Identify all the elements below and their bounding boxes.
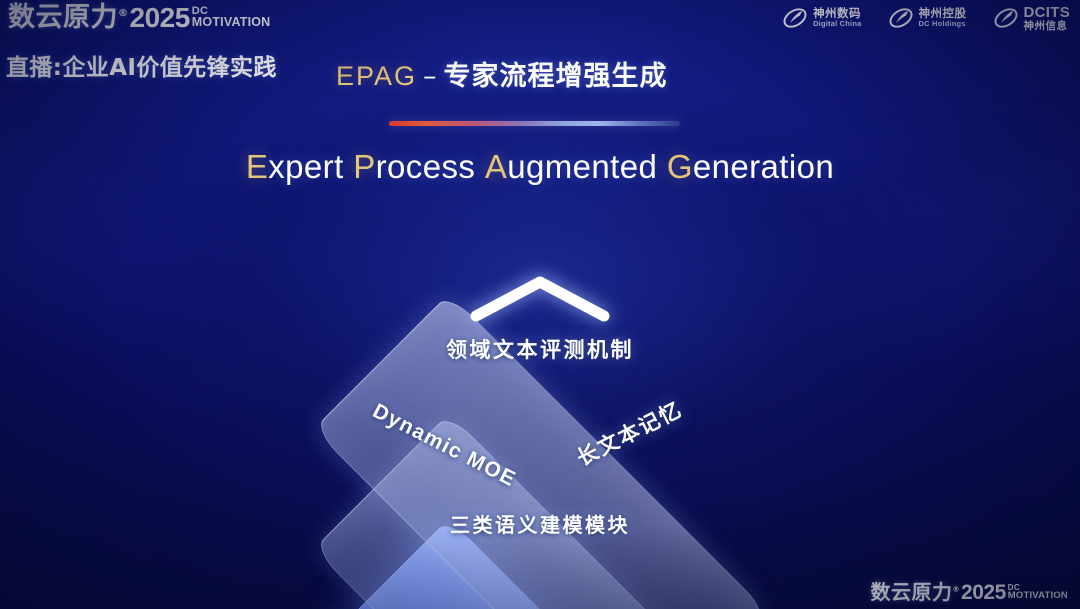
- headline-expert-process-augmented-generation: Expert Process Augmented Generation: [0, 148, 1080, 186]
- headline-cap-p: P: [353, 148, 375, 185]
- headline-rest-process: rocess: [376, 148, 476, 185]
- gradient-divider: [389, 121, 680, 126]
- title-chinese: 专家流程增强生成: [444, 61, 668, 92]
- presentation-slide: 数云原力® 2025 DC MOTIVATION 直播:企业AI价值先锋实践 E…: [0, 0, 1080, 609]
- headline-rest-expert: xpert: [268, 148, 343, 185]
- partner-logo-dcits: DCITS 神州信息: [993, 5, 1071, 32]
- partner-label: 神州控股 DC Holdings: [919, 8, 967, 28]
- brand-logo-year: 2025: [130, 4, 190, 32]
- watermark-logo-cn: 数云原力®: [871, 582, 961, 602]
- chevron-up-icon: [466, 272, 614, 324]
- partner-label: DCITS 神州信息: [1024, 5, 1071, 32]
- brand-logo: 数云原力® 2025 DC MOTIVATION: [8, 4, 270, 32]
- registered-mark-icon: ®: [118, 8, 129, 19]
- partner-name-en: DCITS: [1024, 5, 1071, 21]
- partner-label: 神州数码 Digital China: [813, 8, 861, 28]
- registered-mark-icon: ®: [953, 585, 961, 593]
- brand-logo-cn: 数云原力®: [8, 4, 129, 31]
- swoosh-icon: [888, 5, 914, 31]
- swoosh-icon: [782, 5, 808, 31]
- partner-name-en: DC Holdings: [919, 20, 967, 28]
- headline-cap-a: A: [485, 148, 507, 185]
- partner-logo-dc-holdings: 神州控股 DC Holdings: [888, 5, 967, 31]
- watermark-logo-motivation: MOTIVATION: [1008, 591, 1068, 601]
- watermark-logo-year: 2025: [961, 582, 1006, 603]
- diagram-label-bottom: 三类语义建模模块: [450, 509, 630, 538]
- brand-logo-motivation: MOTIVATION: [192, 16, 271, 29]
- partner-logo-row: 神州数码 Digital China 神州控股 DC Holdings: [782, 5, 1070, 32]
- watermark-logo: 数云原力® 2025 DC MOTIVATION: [871, 582, 1068, 603]
- title-dash: –: [417, 61, 444, 92]
- headline-rest-generation: eneration: [693, 148, 834, 185]
- headline-cap-g: G: [667, 148, 693, 185]
- title-acronym: EPAG: [336, 61, 417, 91]
- brand-logo-dc-motivation: DC MOTIVATION: [192, 6, 271, 29]
- partner-name-cn: 神州信息: [1024, 21, 1071, 32]
- page-title: EPAG–专家流程增强生成: [336, 54, 668, 93]
- swoosh-icon: [993, 5, 1019, 31]
- diagram-label-top: 领域文本评测机制: [446, 334, 634, 364]
- watermark-logo-dc-motivation: DC MOTIVATION: [1008, 584, 1068, 601]
- partner-name-en: Digital China: [813, 20, 861, 28]
- live-stream-label: 直播:企业AI价值先锋实践: [6, 48, 277, 82]
- headline-cap-e: E: [246, 148, 268, 185]
- partner-logo-digital-china: 神州数码 Digital China: [782, 5, 861, 31]
- headline-rest-augmented: ugmented: [507, 148, 657, 185]
